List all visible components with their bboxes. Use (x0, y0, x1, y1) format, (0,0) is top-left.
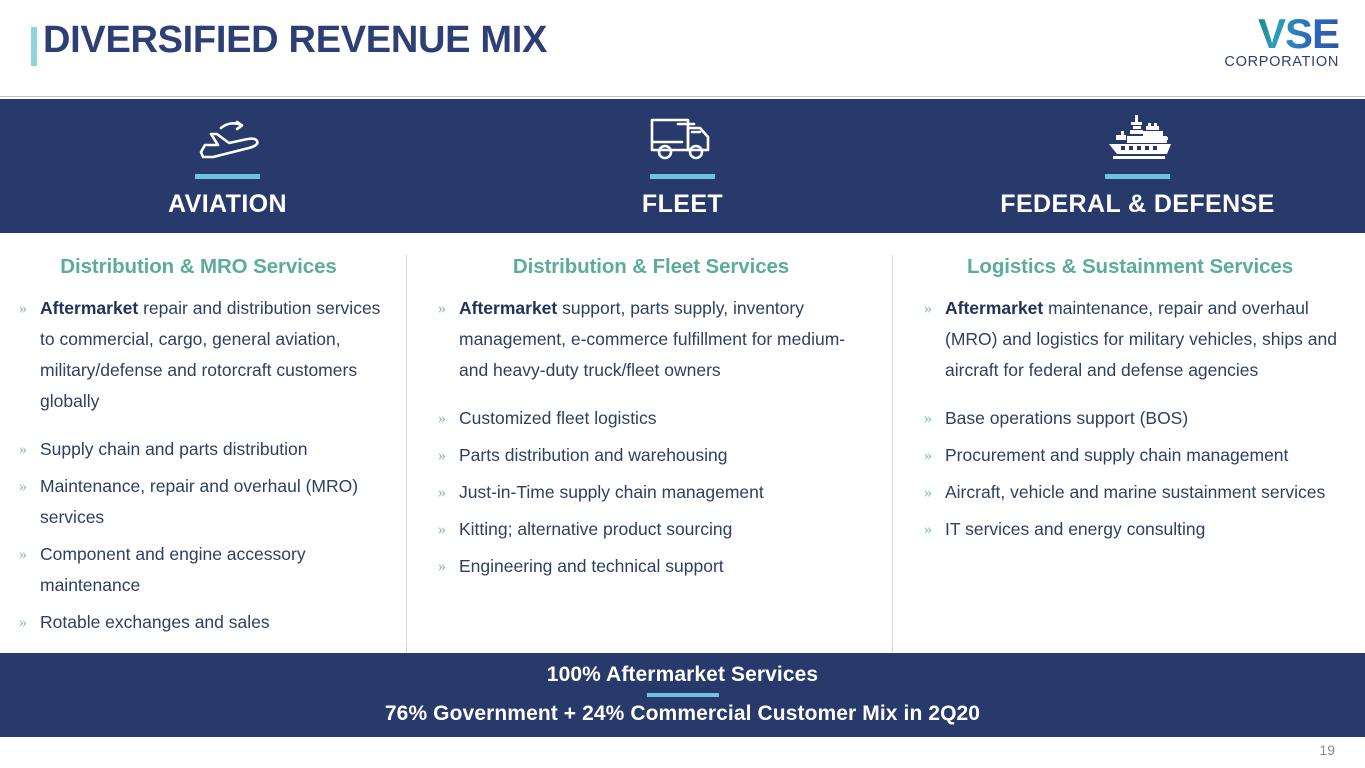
column-heading: Distribution & MRO Services (14, 255, 383, 279)
list-item: » Parts distribution and warehousing (433, 440, 869, 471)
segment-rule (650, 174, 715, 179)
page-number: 19 (1319, 742, 1335, 758)
bullet-marker-icon: » (14, 471, 40, 502)
segment-label-aviation: AVIATION (168, 190, 287, 219)
bullet-marker-icon: » (14, 434, 40, 465)
list-item: » Aftermarket repair and distribution se… (14, 293, 383, 417)
list-item-text: Just-in-Time supply chain management (459, 477, 869, 508)
title-accent-bar (31, 27, 37, 66)
list-item-text: Aircraft, vehicle and marine sustainment… (945, 477, 1341, 508)
footer-banner-line1: 100% Aftermarket Services (547, 663, 818, 687)
bullet-marker-icon: » (433, 403, 459, 434)
bullet-list: » Aftermarket repair and distribution se… (14, 293, 383, 638)
slide-header: DIVERSIFIED REVENUE MIX VSE CORPORATION (0, 0, 1365, 99)
segment-label-federal-defense: FEDERAL & DEFENSE (1000, 190, 1274, 219)
list-item-text: Aftermarket repair and distribution serv… (40, 293, 383, 417)
list-item-text: Customized fleet logistics (459, 403, 869, 434)
list-item-text: Parts distribution and warehousing (459, 440, 869, 471)
list-item: » Base operations support (BOS) (919, 403, 1341, 434)
bullet-marker-icon: » (14, 607, 40, 638)
list-item-text: Aftermarket maintenance, repair and over… (945, 293, 1341, 386)
list-item-text: Base operations support (BOS) (945, 403, 1341, 434)
bullet-marker-icon: » (433, 293, 459, 324)
list-item-text: Maintenance, repair and overhaul (MRO) s… (40, 471, 383, 533)
segment-fleet: FLEET (455, 99, 910, 233)
segment-band: AVIATION FLEET (0, 99, 1365, 233)
list-item-text: Engineering and technical support (459, 551, 869, 582)
bullet-marker-icon: » (14, 293, 40, 324)
bullet-marker-icon: » (919, 293, 945, 324)
bullet-marker-icon: » (433, 551, 459, 582)
list-item: » Kitting; alternative product sourcing (433, 514, 869, 545)
list-item: » Maintenance, repair and overhaul (MRO)… (14, 471, 383, 533)
list-item: » Just-in-Time supply chain management (433, 477, 869, 508)
list-item: » Aftermarket support, parts supply, inv… (433, 293, 869, 386)
bullet-marker-icon: » (919, 440, 945, 471)
segment-federal-defense: FEDERAL & DEFENSE (910, 99, 1365, 233)
list-item: » Supply chain and parts distribution (14, 434, 383, 465)
list-item-text: Rotable exchanges and sales (40, 607, 383, 638)
list-item: » Engineering and technical support (433, 551, 869, 582)
list-item: » Procurement and supply chain managemen… (919, 440, 1341, 471)
list-item: » IT services and energy consulting (919, 514, 1341, 545)
footer-banner-line2: 76% Government + 24% Commercial Customer… (385, 702, 980, 726)
list-item-text: Component and engine accessory maintenan… (40, 539, 383, 601)
column-heading: Logistics & Sustainment Services (919, 255, 1341, 279)
list-item: » Rotable exchanges and sales (14, 607, 383, 638)
list-item-text: IT services and energy consulting (945, 514, 1341, 545)
list-item: » Aftermarket maintenance, repair and ov… (919, 293, 1341, 386)
list-item-strong: Aftermarket (40, 298, 138, 318)
list-item-text: Kitting; alternative product sourcing (459, 514, 869, 545)
bullet-marker-icon: » (14, 539, 40, 570)
list-item: » Aircraft, vehicle and marine sustainme… (919, 477, 1341, 508)
column-heading: Distribution & Fleet Services (433, 255, 869, 279)
page-title: DIVERSIFIED REVENUE MIX (43, 19, 547, 62)
list-item-text: Aftermarket support, parts supply, inven… (459, 293, 869, 386)
footer-banner: 100% Aftermarket Services 76% Government… (0, 653, 1365, 737)
column-aviation: Distribution & MRO Services » Aftermarke… (0, 233, 407, 653)
content-columns: Distribution & MRO Services » Aftermarke… (0, 233, 1365, 653)
segment-rule (195, 174, 260, 179)
list-item: » Customized fleet logistics (433, 403, 869, 434)
bullet-marker-icon: » (919, 514, 945, 545)
bullet-marker-icon: » (433, 440, 459, 471)
header-divider (0, 96, 1365, 97)
bullet-marker-icon: » (919, 403, 945, 434)
segment-rule (1105, 174, 1170, 179)
list-item-strong: Aftermarket (945, 298, 1043, 318)
bullet-marker-icon: » (919, 477, 945, 508)
list-item-text: Supply chain and parts distribution (40, 434, 383, 465)
bullet-list: » Aftermarket support, parts supply, inv… (433, 293, 869, 582)
list-item-text: Procurement and supply chain management (945, 440, 1341, 471)
list-item-strong: Aftermarket (459, 298, 557, 318)
naval-ship-icon (1099, 113, 1177, 165)
logo-subtext: CORPORATION (1215, 54, 1339, 70)
bullet-list: » Aftermarket maintenance, repair and ov… (919, 293, 1341, 545)
logo-wordmark: VSE (1215, 16, 1339, 52)
bullet-marker-icon: » (433, 477, 459, 508)
footer-banner-rule (647, 693, 719, 697)
delivery-truck-icon (648, 113, 718, 165)
column-federal-defense: Logistics & Sustainment Services » After… (893, 233, 1365, 653)
bullet-marker-icon: » (433, 514, 459, 545)
list-item: » Component and engine accessory mainten… (14, 539, 383, 601)
segment-label-fleet: FLEET (642, 190, 723, 219)
slide: DIVERSIFIED REVENUE MIX VSE CORPORATION … (0, 0, 1365, 768)
vse-corporation-logo: VSE CORPORATION (1215, 16, 1339, 72)
column-fleet: Distribution & Fleet Services » Aftermar… (407, 233, 893, 653)
segment-aviation: AVIATION (0, 99, 455, 233)
airplane-takeoff-icon (191, 113, 265, 165)
